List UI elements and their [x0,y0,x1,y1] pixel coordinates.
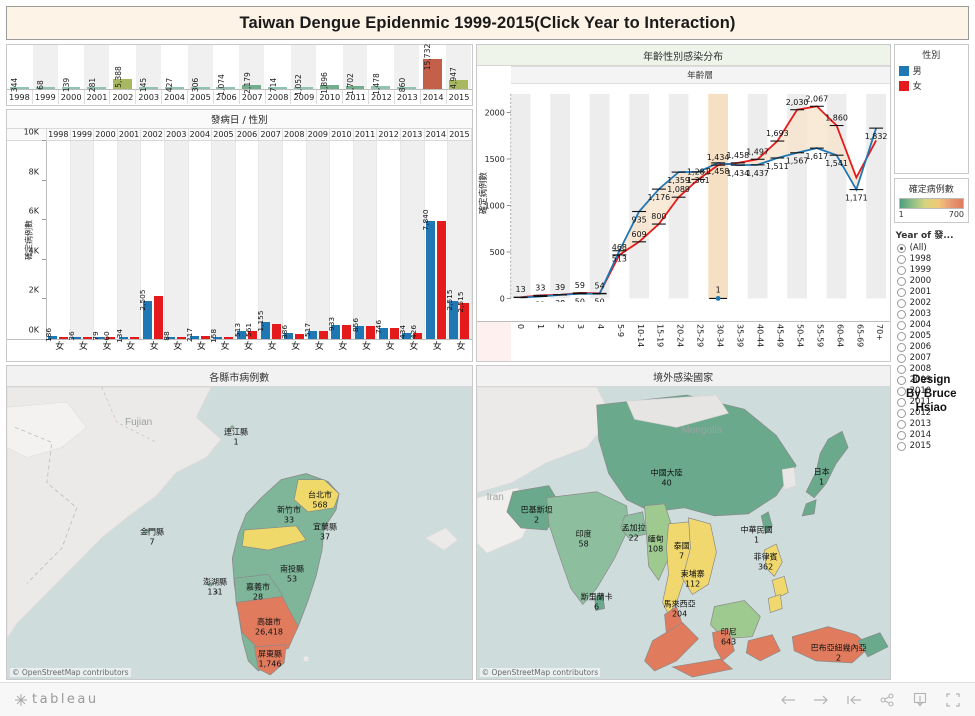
radio-button-icon[interactable] [897,277,906,286]
forward-arrow-icon[interactable] [813,692,829,708]
gender-column-2010[interactable]: 933 [330,141,354,339]
year-bar-value: 427 [165,78,174,93]
year-bar-value: 281 [88,78,97,93]
line-x-tick-label: 50-54 [795,322,804,361]
year-bar-2015[interactable]: 4,947 [446,45,472,89]
gender-x-tick: 女 [453,340,466,350]
year-filter-list[interactable]: (All)19981999200020012002200320042005200… [894,243,969,451]
line-x-tick-label: 5-9 [616,322,625,361]
line-point-label: 50 [594,298,604,303]
year-filter-option-2013[interactable]: 2013 [897,419,969,429]
gender-year-header-2014[interactable]: 2014 [425,129,449,140]
year-filter-option-label: 2010 [910,386,932,396]
gender-bar-male[interactable]: 856 [355,326,364,339]
gender-column-2006[interactable]: 513561 [236,141,260,339]
line-x-tick-label: 1 [536,322,545,361]
line-x-tick-50-54[interactable]: 50-54 [790,322,810,361]
radio-button-icon[interactable] [897,409,906,418]
line-x-tick-45-49[interactable]: 45-49 [770,322,790,361]
gender-bar-male[interactable]: 517 [308,331,317,339]
gender-bar-male[interactable]: 746 [379,328,388,339]
asia-map-attribution: © OpenStreetMap contributors [480,668,601,677]
gender-year-header-2006[interactable]: 2006 [236,129,260,140]
gender-bar-pair: 36 [71,141,94,339]
gender-bar-female[interactable]: 426 [413,333,422,339]
gender-column-2013[interactable]: 434426 [401,141,425,339]
gender-x-tick: 女 [241,340,254,350]
gender-x-cell-2005: 女 [212,340,236,361]
year-bar-2010[interactable]: 1,896 [317,45,343,89]
year-bar-plot[interactable]: 344681392815,3881454273061,0742,1797141,… [7,45,472,89]
line-x-tick-55-59[interactable]: 55-59 [810,322,830,361]
line-x-tick-2[interactable]: 2 [551,322,571,361]
line-x-tick-4[interactable]: 4 [590,322,610,361]
gender-bar-value: 1,155 [256,310,265,331]
gender-bar-pair: 1,155 [259,141,282,339]
year-bar-value: 306 [191,78,200,93]
map-geo-label: Iran [487,492,504,503]
gender-bar-male[interactable]: 158 [213,337,222,339]
svg-text:1500: 1500 [484,155,504,164]
gender-x-tick: 女 [52,340,65,350]
gender-chart-plot[interactable]: 1863679601342,505882171585135611,1553865… [47,141,472,339]
year-bar-2002[interactable]: 5,388 [110,45,136,89]
gender-x-cell-2002: 女 [141,340,165,361]
line-chart-band-label: 年齡層 [511,66,890,84]
year-bar-value: 15,732 [423,44,432,71]
gender-x-cell-1998: 女 [47,340,71,361]
gender-bar-male[interactable]: 88 [166,337,175,339]
gender-bar-value: 746 [374,320,383,334]
line-point-label: 1,089 [667,185,690,194]
svg-text:0: 0 [499,294,504,302]
gender-y-tickmark [42,298,46,299]
gender-year-header-2012[interactable]: 2012 [377,129,401,140]
year-filter-option-2011[interactable]: 2011 [897,397,969,407]
gender-legend-title: 性別 [899,48,964,61]
gender-bar-female[interactable] [319,331,328,339]
cases-gradient-labels: 1 700 [899,210,964,219]
taiwan-map-title: 各縣市病例數 [7,366,472,387]
taiwan-county-map[interactable]: 各縣市病例數 © OpenStreetMap contributors Fuji… [6,365,473,680]
gender-column-2005[interactable]: 158 [212,141,236,339]
line-x-tick-label: 25-29 [696,322,705,361]
gender-y-tickmark [42,140,46,141]
year-filter-option-label: 2014 [910,430,932,440]
gender-y-tick-6K: 6K [29,207,39,216]
gender-year-header-2002[interactable]: 2002 [141,129,165,140]
gender-y-tick-10K: 10K [24,128,39,137]
gender-bar-pair: 7,840 [425,141,448,339]
year-filter-option-2007[interactable]: 2007 [897,353,969,363]
year-bar-2012[interactable]: 1,478 [368,45,394,89]
cases-legend-title: 確定病例數 [899,182,964,195]
year-filter-option-2004[interactable]: 2004 [897,320,969,330]
gender-bar-male[interactable]: 217 [190,336,199,339]
year-bar-1998[interactable]: 344 [7,45,33,89]
year-bar-value: 860 [398,78,407,93]
year-filter-option-label: 2011 [910,397,932,407]
year-filter-option-2008[interactable]: 2008 [897,364,969,374]
year-bar-2005[interactable]: 306 [188,45,214,89]
year-bar-2003[interactable]: 145 [136,45,162,89]
back-arrow-icon[interactable] [780,692,796,708]
gender-column-2004[interactable]: 217 [189,141,213,339]
dashboard-title-bar: Taiwan Dengue Epidenmic 1999-2015(Click … [6,6,969,40]
cases-legend-max: 700 [949,210,964,219]
year-bar-1999[interactable]: 68 [33,45,59,89]
year-bar-2001[interactable]: 281 [84,45,110,89]
radio-button-icon[interactable] [897,299,906,308]
gender-bar-pair: 434426 [401,141,424,339]
gender-column-2000[interactable]: 7960 [94,141,118,339]
gender-x-cell-2014: 女 [425,340,449,361]
gender-bar-chart[interactable]: 發病日 / 性別 1998199920002001200220032004200… [6,109,473,362]
gender-bar-value: 88 [162,331,171,340]
year-bar-value: 1,478 [372,73,381,95]
download-icon[interactable] [912,692,928,708]
gender-column-2011[interactable]: 856 [354,141,378,339]
year-bar-value: 714 [269,78,278,93]
year-filter-option-label: (All) [910,243,927,253]
gender-year-header-2004[interactable]: 2004 [189,129,213,140]
year-filter-option-All[interactable]: (All) [897,243,969,253]
gender-bar-value: 79 [91,331,100,340]
year-bar-chart[interactable]: 344681392815,3881454273061,0742,1797141,… [6,44,473,106]
line-x-tick-label: 0 [516,322,525,361]
year-filter-option-2012[interactable]: 2012 [897,408,969,418]
line-point-label: 50 [574,298,584,303]
year-bar-2008[interactable]: 714 [265,45,291,89]
line-point-label: 39 [555,283,565,292]
year-bar-value: 1,896 [320,73,329,95]
year-filter-option-label: 2004 [910,320,932,330]
gender-bar-pair: 217 [189,141,212,339]
share-icon[interactable] [879,692,895,708]
line-point-label: 33 [535,283,545,292]
year-bar-2014[interactable]: 15,732 [420,45,446,89]
radio-button-icon[interactable] [897,431,906,440]
line-x-tick-15-19[interactable]: 15-19 [650,322,670,361]
line-point-label: 1,860 [825,114,848,123]
gender-year-header-2007[interactable]: 2007 [259,129,283,140]
gender-x-cell-2004: 女 [189,340,213,361]
overseas-country-map[interactable]: 境外感染國家 © OpenStreetMap contributors Mong… [476,365,891,680]
year-filter-option-label: 1998 [910,254,932,264]
gender-bar-pair: 2,505 [141,141,164,339]
line-point-label: 609 [631,230,646,239]
year-filter-option-2003[interactable]: 2003 [897,309,969,319]
year-filter-option-2014[interactable]: 2014 [897,430,969,440]
year-bar-2009[interactable]: 1,052 [291,45,317,89]
year-bar-2007[interactable]: 2,179 [239,45,265,89]
radio-button-icon[interactable] [897,398,906,407]
radio-button-icon[interactable] [897,343,906,352]
year-filter-option-label: 2008 [910,364,932,374]
page-title: Taiwan Dengue Epidenmic 1999-2015(Click … [240,14,736,33]
gender-chart-title: 發病日 / 性別 [7,110,472,129]
line-x-tick-35-39[interactable]: 35-39 [730,322,750,361]
gender-chart-y-axis: 確定病例數 0K2K4K6K8K10K [7,141,47,339]
gender-bar-value: 517 [303,323,312,337]
line-x-tick-3[interactable]: 3 [570,322,590,361]
cases-color-legend: 確定病例數 1 700 [894,178,969,223]
radio-button-icon[interactable] [897,266,906,275]
dashboard: Taiwan Dengue Epidenmic 1999-2015(Click … [0,0,975,682]
gender-bar-pair: 134 [118,141,141,339]
gender-bar-male[interactable]: 36 [72,337,81,339]
gender-year-header-2010[interactable]: 2010 [330,129,354,140]
gender-bar-female[interactable] [224,337,233,339]
line-x-tick-10-14[interactable]: 10-14 [630,322,650,361]
year-axis-tick-2014[interactable]: 2014 [421,90,447,104]
gender-bar-value: 856 [351,318,360,332]
line-point-label: 1,693 [766,129,789,138]
year-filter-option-label: 1999 [910,265,932,275]
line-chart-axis-row: 012345-910-1415-1920-2425-2930-3435-3940… [477,321,890,361]
gender-year-header-2009[interactable]: 2009 [307,129,331,140]
line-chart-svg: 0500100015002000確定病例數1333395954468609800… [477,84,890,302]
gender-year-header-1999[interactable]: 1999 [71,129,95,140]
line-x-tick-40-44[interactable]: 40-44 [750,322,770,361]
gender-year-header-2005[interactable]: 2005 [212,129,236,140]
taiwan-map-graphic [7,387,472,679]
gender-bar-value: 386 [280,325,289,339]
gender-x-tick: 女 [359,340,372,350]
gender-bar-pair: 517 [307,141,330,339]
gender-bar-male[interactable]: 2,505 [143,301,152,339]
fullscreen-icon[interactable] [945,692,961,708]
gender-x-cell-2007: 女 [259,340,283,361]
asia-map-title: 境外感染國家 [477,366,890,387]
gender-year-header-2013[interactable]: 2013 [401,129,425,140]
year-filter-option-2015[interactable]: 2015 [897,441,969,451]
gender-bar-pair: 513561 [236,141,259,339]
radio-button-icon[interactable] [897,244,906,253]
gender-x-tick: 女 [312,340,325,350]
year-filter-option-label: 2013 [910,419,932,429]
map-geo-label: Mongolia [682,425,723,436]
gender-year-header-2011[interactable]: 2011 [354,129,378,140]
gender-y-tick-2K: 2K [29,286,39,295]
gender-year-header-1998[interactable]: 1998 [47,129,71,140]
gender-x-cell-2015: 女 [448,340,472,361]
gender-chart-x-axis: 女女女女女女女女女女女女女女女女女女 [7,339,472,361]
gender-column-2002[interactable]: 2,505 [141,141,165,339]
line-x-tick-5-9[interactable]: 5-9 [610,322,630,361]
radio-button-icon[interactable] [897,365,906,374]
gender-bar-female[interactable]: 561 [248,331,257,339]
gender-year-header-2001[interactable]: 2001 [118,129,142,140]
gender-x-tick: 女 [99,340,112,350]
year-filter-option-label: 2006 [910,342,932,352]
year-filter-title: Year of 發... [896,228,969,241]
gender-bar-male[interactable]: 386 [284,333,293,339]
year-filter-option-label: 2009 [910,375,932,385]
year-filter-option-label: 2000 [910,276,932,286]
gender-bar-male[interactable]: 1,155 [261,322,270,339]
map-geo-label: Fujian [125,417,152,428]
gender-x-tick: 女 [147,340,160,350]
gender-bar-value: 2,515 [456,291,465,312]
year-bar-value: 2,179 [243,72,252,94]
gender-bar-pair: 158 [212,141,235,339]
gender-bar-pair: 933 [330,141,353,339]
toolbar-icons [780,692,961,708]
line-x-tick-label: 60-64 [835,322,844,361]
gender-bar-value: 186 [44,328,53,342]
line-x-tick-1[interactable]: 1 [531,322,551,361]
gender-column-1998[interactable]: 186 [47,141,71,339]
gender-year-header-2000[interactable]: 2000 [94,129,118,140]
year-filter-option-label: 2003 [910,309,932,319]
asia-map-canvas[interactable]: © OpenStreetMap contributors MongoliaIra… [477,387,890,679]
gender-bar-male[interactable]: 134 [119,337,128,339]
line-x-tick-label: 65-69 [855,322,864,361]
gender-column-2015[interactable]: 2,5152,515 [448,141,472,339]
gender-column-1999[interactable]: 36 [71,141,95,339]
radio-button-icon[interactable] [897,288,906,297]
tableau-wordmark: tableau [32,692,99,707]
cases-legend-min: 1 [899,210,904,219]
gender-x-cell-2001: 女 [118,340,142,361]
year-filter-option-2009[interactable]: 2009 [897,375,969,385]
year-bar-2004[interactable]: 427 [162,45,188,89]
gender-bar-value: 513 [233,323,242,337]
gender-bar-pair: 856 [354,141,377,339]
year-filter-option-1998[interactable]: 1998 [897,254,969,264]
line-x-tick-label: 10-14 [636,322,645,361]
year-bar-2000[interactable]: 139 [59,45,85,89]
gender-bar-value: 158 [209,329,218,343]
year-filter-option-2000[interactable]: 2000 [897,276,969,286]
radio-button-icon[interactable] [897,332,906,341]
gender-year-header-2015[interactable]: 2015 [448,129,472,140]
radio-button-icon[interactable] [897,442,906,451]
age-gender-line-chart[interactable]: 年齡性別感染分布 年齡層 0500100015002000確定病例數133339… [476,44,891,362]
line-point-label: 513 [611,255,626,264]
line-point-label: 21 [535,300,545,302]
gender-bar-value: 2,505 [138,290,147,311]
gender-bar-male[interactable]: 7,840 [426,221,435,339]
gender-legend: 性別 男 女 [894,44,969,174]
year-filter-option-2002[interactable]: 2002 [897,298,969,308]
line-x-tick-label: 4 [596,322,605,361]
gender-bar-male[interactable]: 933 [331,325,340,339]
line-x-tick-30-34[interactable]: 30-34 [710,322,730,361]
gender-bar-value: 434 [398,324,407,338]
gender-year-header-2008[interactable]: 2008 [283,129,307,140]
year-bar-value: 1,074 [217,74,226,96]
top-row: 344681392815,3881454273061,0742,1797141,… [6,44,969,362]
left-column: 344681392815,3881454273061,0742,1797141,… [6,44,473,362]
radio-button-icon[interactable] [897,420,906,429]
year-bar-2013[interactable]: 860 [394,45,420,89]
year-filter-option-2001[interactable]: 2001 [897,287,969,297]
gender-column-2003[interactable]: 88 [165,141,189,339]
gender-column-2009[interactable]: 517 [307,141,331,339]
year-bar-value: 68 [36,80,45,90]
gender-y-tickmark [42,180,46,181]
line-x-tick-label: 30-34 [716,322,725,361]
gender-bar-value: 60 [102,331,111,340]
legend-item-female[interactable]: 女 [899,79,964,92]
cases-gradient-bar [899,198,964,209]
year-axis-tick-1999[interactable]: 1999 [33,90,59,104]
line-x-tick-label: 55-59 [815,322,824,361]
gender-column-2012[interactable]: 746 [377,141,401,339]
highlight-point-marker[interactable] [715,296,720,301]
year-axis-tick-2015[interactable]: 2015 [447,90,472,104]
gender-x-cell-2003: 女 [165,340,189,361]
gender-x-cell-1999: 女 [71,340,95,361]
gender-column-2008[interactable]: 386 [283,141,307,339]
gender-chart-body: 確定病例數 0K2K4K6K8K10K 1863679601342,505882… [7,141,472,339]
gender-x-cell-2011: 女 [354,340,378,361]
gender-bar-female[interactable] [130,337,139,339]
year-axis-tick-2002[interactable]: 2002 [110,90,136,104]
line-point-label: 2,067 [805,94,828,103]
bottom-toolbar: tableau [0,682,975,716]
year-filter-option-1999[interactable]: 1999 [897,265,969,275]
taiwan-map-canvas[interactable]: © OpenStreetMap contributors Fujian連江縣1金… [7,387,472,679]
year-bar-value: 5,388 [114,66,123,88]
line-x-tick-20-24[interactable]: 20-24 [670,322,690,361]
gender-bar-male[interactable]: 186 [48,336,57,339]
radio-button-icon[interactable] [897,376,906,385]
tableau-logo-icon [14,693,28,707]
year-filter-option-2005[interactable]: 2005 [897,331,969,341]
year-bar-value: 4,947 [449,67,458,89]
line-chart-title: 年齡性別感染分布 [477,45,890,66]
gender-x-tick: 女 [265,340,278,350]
gender-x-cell-2008: 女 [283,340,307,361]
legend-item-male[interactable]: 男 [899,64,964,77]
year-filter-option-2010[interactable]: 2010 [897,386,969,396]
gender-bar-female[interactable] [437,221,446,339]
line-x-tick-65-69[interactable]: 65-69 [850,322,870,361]
radio-button-icon[interactable] [897,255,906,264]
gender-chart-header: 發病日 / 性別 1998199920002001200220032004200… [7,110,472,141]
line-x-tick-70+[interactable]: 70+ [870,322,890,361]
radio-button-icon[interactable] [897,310,906,319]
year-filter-option-label: 2007 [910,353,932,363]
year-filter-option-label: 2001 [910,287,932,297]
year-bar-2011[interactable]: 1,702 [343,45,369,89]
year-filter-option-2006[interactable]: 2006 [897,342,969,352]
line-x-tick-60-64[interactable]: 60-64 [830,322,850,361]
line-chart-plot-area[interactable]: 0500100015002000確定病例數1333395954468609800… [477,84,890,321]
line-x-tick-label: 2 [556,322,565,361]
radio-button-icon[interactable] [897,321,906,330]
gender-column-2007[interactable]: 1,155 [259,141,283,339]
gender-bar-pair: 2,5152,515 [448,141,471,339]
line-point-label: 10 [515,301,525,302]
year-bar-value: 1,702 [346,73,355,95]
year-bar-2006[interactable]: 1,074 [214,45,240,89]
line-x-tick-label: 45-49 [775,322,784,361]
radio-button-icon[interactable] [897,354,906,363]
gender-bar-female[interactable]: 2,515 [460,303,469,339]
revert-icon[interactable] [846,692,862,708]
gender-x-spacer [7,340,47,361]
gender-year-header-2003[interactable]: 2003 [165,129,189,140]
line-x-tick-0[interactable]: 0 [511,322,531,361]
gender-x-tick: 女 [76,340,89,350]
radio-button-icon[interactable] [897,387,906,396]
line-x-tick-25-29[interactable]: 25-29 [690,322,710,361]
line-x-tick-label: 15-19 [656,322,665,361]
